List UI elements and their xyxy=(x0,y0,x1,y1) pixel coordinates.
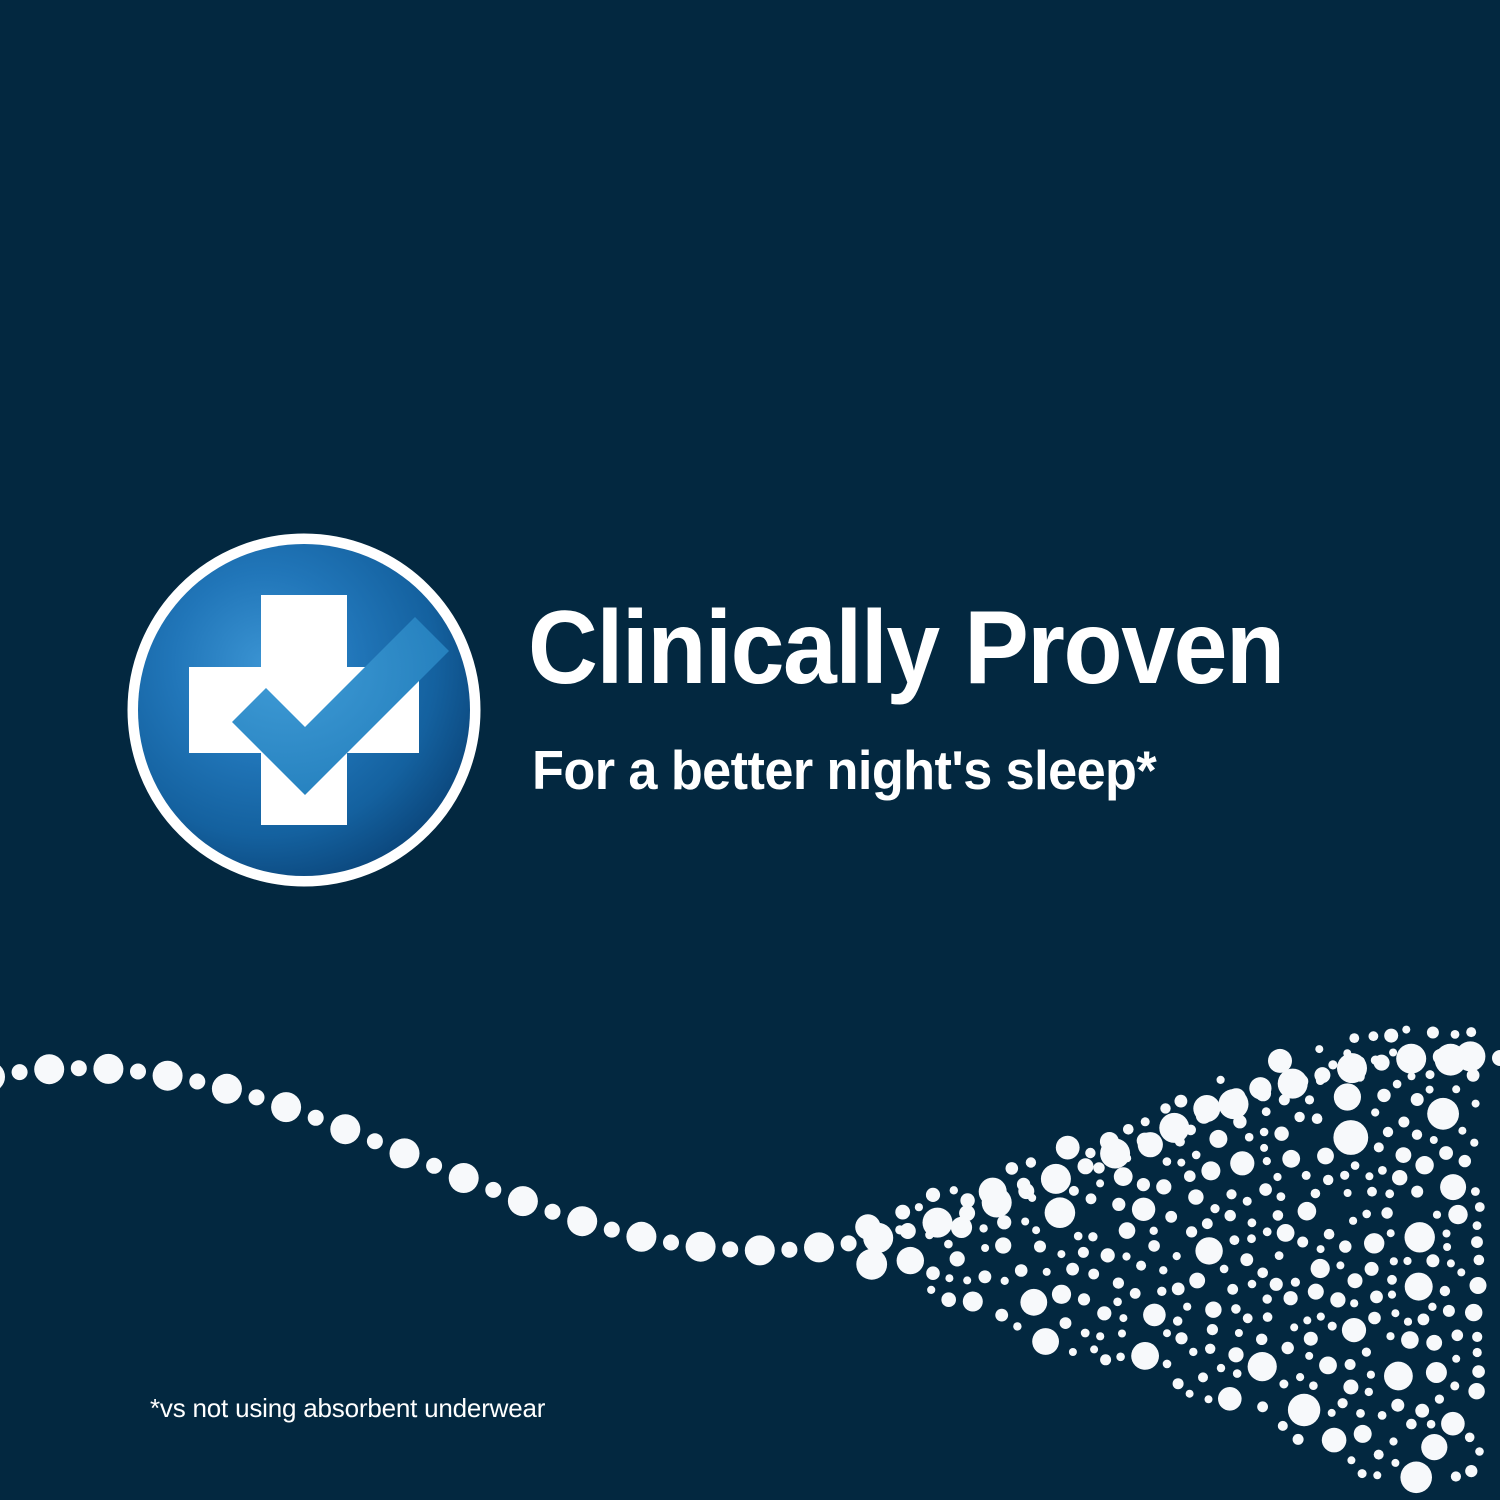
headline-block: Clinically Proven For a better night's s… xyxy=(528,596,1448,798)
page-subtitle: For a better night's sleep* xyxy=(532,742,1402,798)
footnote-text: *vs not using absorbent underwear xyxy=(150,1393,545,1423)
clinically-proven-seal xyxy=(127,533,481,887)
page-title: Clinically Proven xyxy=(528,596,1384,700)
dot-cluster-group xyxy=(855,1026,1486,1494)
poster-canvas: Clinically Proven For a better night's s… xyxy=(0,0,1500,1500)
dot-wave-group xyxy=(0,1041,1500,1265)
